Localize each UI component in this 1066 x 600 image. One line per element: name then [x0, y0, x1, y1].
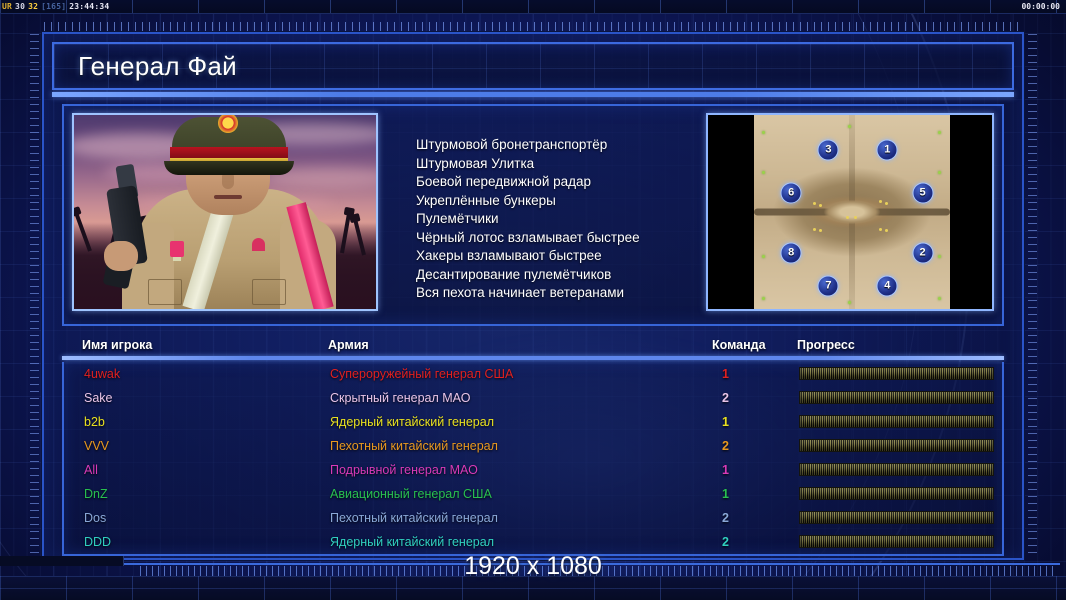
player-team: 2 [722, 535, 729, 549]
column-header-player-name: Имя игрока [82, 338, 152, 352]
map-start-position-2: 2 [912, 242, 933, 263]
portrait-cap-badge-icon [218, 113, 238, 133]
player-team: 1 [722, 367, 729, 381]
player-army: Супероружейный генерал США [330, 367, 513, 381]
page-title: Генерал Фай [54, 51, 237, 82]
title-panel: Генерал Фай [52, 42, 1014, 90]
player-team: 2 [722, 439, 729, 453]
player-progress-bar [799, 463, 994, 476]
map-preview-image: 31658274 [754, 115, 950, 309]
player-army: Скрытный генерал МАО [330, 391, 470, 405]
player-progress-bar [799, 391, 994, 404]
map-preview-frame[interactable]: 31658274 [706, 113, 994, 311]
player-list-panel: 4uwakСупероружейный генерал США1SakeСкры… [62, 362, 1004, 556]
ruler-left [30, 34, 39, 558]
player-name: VVV [84, 439, 109, 453]
map-start-position-4: 4 [877, 275, 898, 296]
map-center-feature [824, 200, 880, 224]
player-name: DDD [84, 535, 111, 549]
column-header-army: Армия [328, 338, 369, 352]
ability-item: Штурмовой бронетранспортёр [416, 136, 640, 154]
portrait-medal [252, 238, 265, 251]
map-start-position-3: 3 [818, 139, 839, 160]
column-header-team: Команда [712, 338, 766, 352]
table-row[interactable]: DosПехотный китайский генерал2 [64, 506, 1002, 530]
topbar-clock: 23:44:34 [69, 2, 109, 11]
ruler-top [44, 22, 1022, 31]
player-name: b2b [84, 415, 105, 429]
ability-item: Десантирование пулемётчиков [416, 266, 640, 284]
player-progress-bar [799, 487, 994, 500]
player-army: Подрывной генерал МАО [330, 463, 478, 477]
map-supply-dot [854, 216, 857, 219]
ruler-right [1028, 34, 1037, 558]
player-name: 4uwak [84, 367, 120, 381]
map-resource-dot [848, 125, 851, 128]
map-resource-dot [938, 255, 941, 258]
player-army: Пехотный китайский генерал [330, 439, 498, 453]
map-start-position-8: 8 [781, 242, 802, 263]
map-resource-dot [938, 171, 941, 174]
topbar-prefix: UR [2, 2, 12, 11]
portrait-pocket [148, 279, 182, 305]
map-supply-dot [813, 228, 816, 231]
map-supply-dot [819, 204, 822, 207]
player-progress-fill [800, 464, 993, 475]
ability-list: Штурмовой бронетранспортёр Штурмовая Ули… [416, 136, 640, 302]
map-supply-dot [879, 228, 882, 231]
table-row[interactable]: DDDЯдерный китайский генерал2 [64, 530, 1002, 554]
player-name: All [84, 463, 98, 477]
player-progress-fill [800, 488, 993, 499]
topbar-right-timer: 00:00:00 [1021, 2, 1060, 11]
player-progress-fill [800, 416, 993, 427]
table-row[interactable]: SakeСкрытный генерал МАО2 [64, 386, 1002, 410]
general-portrait-frame [72, 113, 378, 311]
map-supply-dot [879, 200, 882, 203]
player-team: 1 [722, 487, 729, 501]
map-supply-dot [885, 202, 888, 205]
player-army: Пехотный китайский генерал [330, 511, 498, 525]
ability-item: Чёрный лотос взламывает быстрее [416, 229, 640, 247]
player-progress-fill [800, 392, 993, 403]
resolution-overlay: 1920 x 1080 [0, 552, 1066, 581]
topbar-left-status: UR 30 32 [165] 23:44:34 [0, 2, 109, 11]
portrait-pocket [252, 279, 286, 305]
map-resource-dot [938, 297, 941, 300]
player-progress-bar [799, 415, 994, 428]
topbar-value-2: 32 [28, 2, 38, 11]
map-resource-dot [762, 171, 765, 174]
ability-item: Хакеры взламывают быстрее [416, 247, 640, 265]
player-name: DnZ [84, 487, 108, 501]
player-army: Ядерный китайский генерал [330, 415, 494, 429]
player-army: Ядерный китайский генерал [330, 535, 494, 549]
ability-item: Штурмовая Улитка [416, 155, 640, 173]
map-supply-dot [885, 229, 888, 232]
ability-item: Пулемётчики [416, 210, 640, 228]
player-progress-fill [800, 512, 993, 523]
topbar-bracket-value: [165] [41, 2, 66, 11]
player-team: 1 [722, 415, 729, 429]
general-portrait-image [74, 115, 376, 309]
player-team: 2 [722, 391, 729, 405]
map-start-position-7: 7 [818, 275, 839, 296]
player-progress-fill [800, 368, 993, 379]
portrait-hand [104, 241, 138, 271]
ability-item: Вся пехота начинает ветеранами [416, 284, 640, 302]
map-supply-dot [813, 202, 816, 205]
map-resource-dot [938, 131, 941, 134]
portrait-cap-visor [164, 161, 294, 175]
player-progress-bar [799, 511, 994, 524]
general-info-panel: Штурмовой бронетранспортёр Штурмовая Ули… [62, 104, 1004, 326]
player-team: 2 [722, 511, 729, 525]
portrait-medal [170, 241, 184, 257]
player-army: Авиационный генерал США [330, 487, 492, 501]
title-underline [52, 92, 1014, 97]
map-resource-dot [762, 131, 765, 134]
table-row[interactable]: DnZАвиационный генерал США1 [64, 482, 1002, 506]
column-header-progress: Прогресс [797, 338, 855, 352]
player-progress-bar [799, 535, 994, 548]
map-supply-dot [819, 229, 822, 232]
table-row[interactable]: 4uwakСупероружейный генерал США1 [64, 362, 1002, 386]
player-progress-fill [800, 536, 993, 547]
player-name: Sake [84, 391, 113, 405]
topbar-value-1: 30 [15, 2, 25, 11]
ability-item: Боевой передвижной радар [416, 173, 640, 191]
topbar-ticks [0, 0, 1066, 13]
table-header-rule [62, 356, 1004, 360]
player-progress-bar [799, 439, 994, 452]
player-team: 1 [722, 463, 729, 477]
portrait-mouth [214, 195, 242, 199]
player-name: Dos [84, 511, 106, 525]
player-progress-fill [800, 440, 993, 451]
player-progress-bar [799, 367, 994, 380]
map-resource-dot [762, 297, 765, 300]
table-row[interactable]: AllПодрывной генерал МАО1 [64, 458, 1002, 482]
ability-item: Укреплённые бункеры [416, 192, 640, 210]
map-start-position-5: 5 [912, 182, 933, 203]
top-status-bar: UR 30 32 [165] 23:44:34 00:00:00 [0, 0, 1066, 14]
map-start-position-6: 6 [781, 182, 802, 203]
map-start-position-1: 1 [877, 139, 898, 160]
map-resource-dot [762, 255, 765, 258]
map-supply-dot [846, 216, 849, 219]
table-row[interactable]: VVVПехотный китайский генерал2 [64, 434, 1002, 458]
table-row[interactable]: b2bЯдерный китайский генерал1 [64, 410, 1002, 434]
